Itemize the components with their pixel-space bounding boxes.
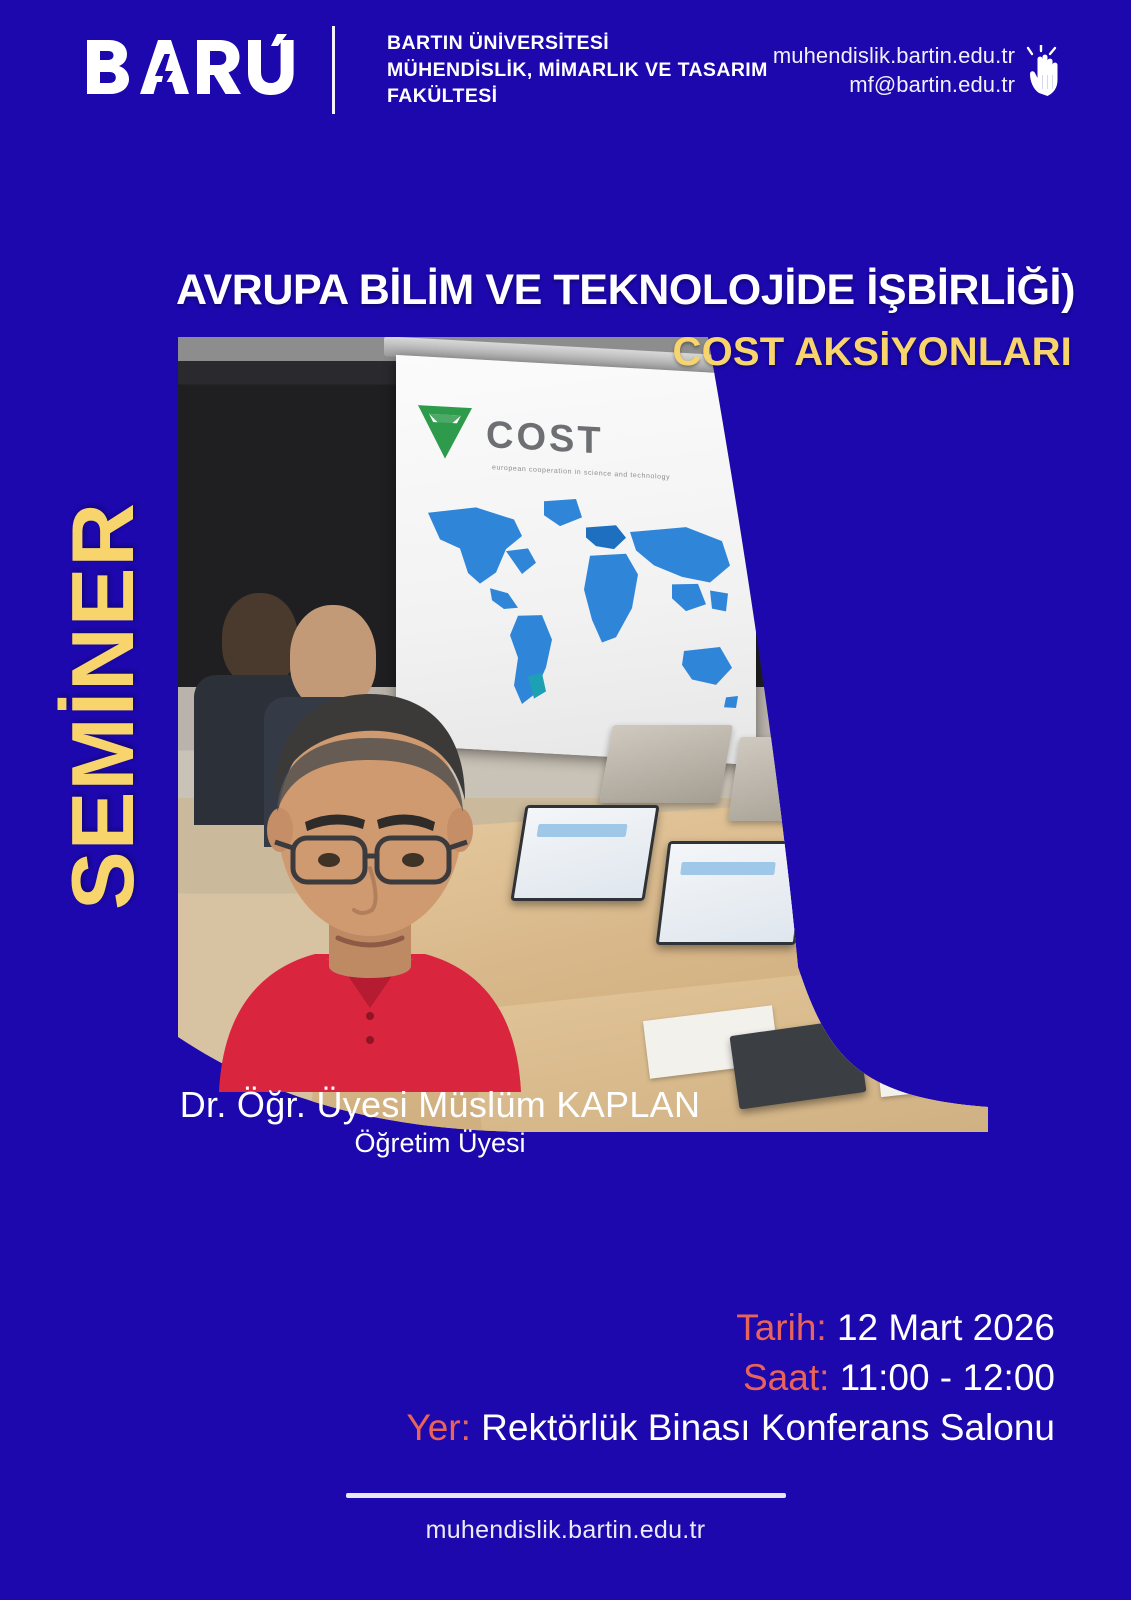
baru-logo-icon — [85, 34, 300, 106]
cost-logo-word: COST — [486, 416, 604, 461]
contact-lines: muhendislik.bartin.edu.tr mf@bartin.edu.… — [773, 41, 1015, 100]
attendee-body-right-2 — [904, 729, 1038, 929]
footer-divider — [346, 1493, 786, 1498]
poster-title: AVRUPA BİLİM VE TEKNOLOJİDE İŞBİRLİĞİ) — [0, 268, 1075, 314]
laptop-5 — [916, 885, 1071, 985]
attendee-face-right-1 — [814, 637, 862, 699]
detail-row-time: Saat: 11:00 - 12:00 — [406, 1353, 1055, 1403]
hand-pointer-icon — [1023, 45, 1071, 101]
laptop-3 — [862, 755, 1005, 847]
paper-sheet-2 — [876, 1031, 1001, 1097]
attendee-hair-right-1 — [806, 619, 898, 759]
detail-row-place: Yer: Rektörlük Binası Konferans Salonu — [406, 1403, 1055, 1453]
brand-divider — [332, 26, 335, 114]
footer-url[interactable]: muhendislik.bartin.edu.tr — [0, 1516, 1131, 1545]
detail-label-time: Saat: — [743, 1357, 829, 1398]
attendee-hair-right-2 — [924, 615, 1020, 733]
contact-website[interactable]: muhendislik.bartin.edu.tr — [773, 41, 1015, 70]
brand-block: BARTIN ÜNİVERSİTESİ MÜHENDİSLİK, MİMARLI… — [85, 26, 768, 114]
detail-label-place: Yer: — [406, 1407, 470, 1448]
detail-value-time: 11:00 - 12:00 — [840, 1357, 1055, 1398]
faculty-line-3: FAKÜLTESİ — [387, 83, 768, 110]
cost-logo-icon: COST — [414, 400, 634, 474]
water-bottle — [830, 923, 864, 1015]
speaker-role: Öğretim Üyesi — [0, 1128, 880, 1159]
detail-label-date: Tarih: — [736, 1307, 826, 1348]
detail-value-place: Rektörlük Binası Konferans Salonu — [481, 1407, 1055, 1448]
laptop-4 — [779, 837, 939, 933]
pen — [952, 960, 1005, 992]
faculty-line-2: MÜHENDİSLİK, MİMARLIK VE TASARIM — [387, 57, 768, 84]
attendee-face-right-2 — [930, 637, 980, 701]
contact-email[interactable]: mf@bartin.edu.tr — [849, 70, 1015, 99]
attendee-body-right-1 — [792, 747, 912, 927]
laptop-1 — [599, 725, 733, 803]
poster-subtitle: COST AKSİYONLARI — [0, 330, 1072, 374]
detail-row-date: Tarih: 12 Mart 2026 — [406, 1303, 1055, 1353]
faculty-name-block: BARTIN ÜNİVERSİTESİ MÜHENDİSLİK, MİMARLI… — [387, 30, 768, 111]
attendee-head-right-1 — [818, 629, 880, 707]
speaker-name: Dr. Öğr. Üyesi Müslüm KAPLAN — [0, 1084, 880, 1126]
poster-header: BARTIN ÜNİVERSİTESİ MÜHENDİSLİK, MİMARLI… — [0, 0, 1131, 140]
laptop-2 — [728, 737, 866, 821]
seminar-vertical-label: SEMİNER — [52, 446, 154, 966]
faculty-line-1: BARTIN ÜNİVERSİTESİ — [387, 30, 768, 57]
contact-block: muhendislik.bartin.edu.tr mf@bartin.edu.… — [773, 39, 1071, 101]
laptop-open-2 — [656, 841, 809, 945]
seminar-poster: BARTIN ÜNİVERSİTESİ MÜHENDİSLİK, MİMARLI… — [0, 0, 1131, 1600]
event-details: Tarih: 12 Mart 2026 Saat: 11:00 - 12:00 … — [406, 1303, 1055, 1453]
speaker-portrait — [205, 672, 535, 1092]
detail-value-date: 12 Mart 2026 — [837, 1307, 1055, 1348]
